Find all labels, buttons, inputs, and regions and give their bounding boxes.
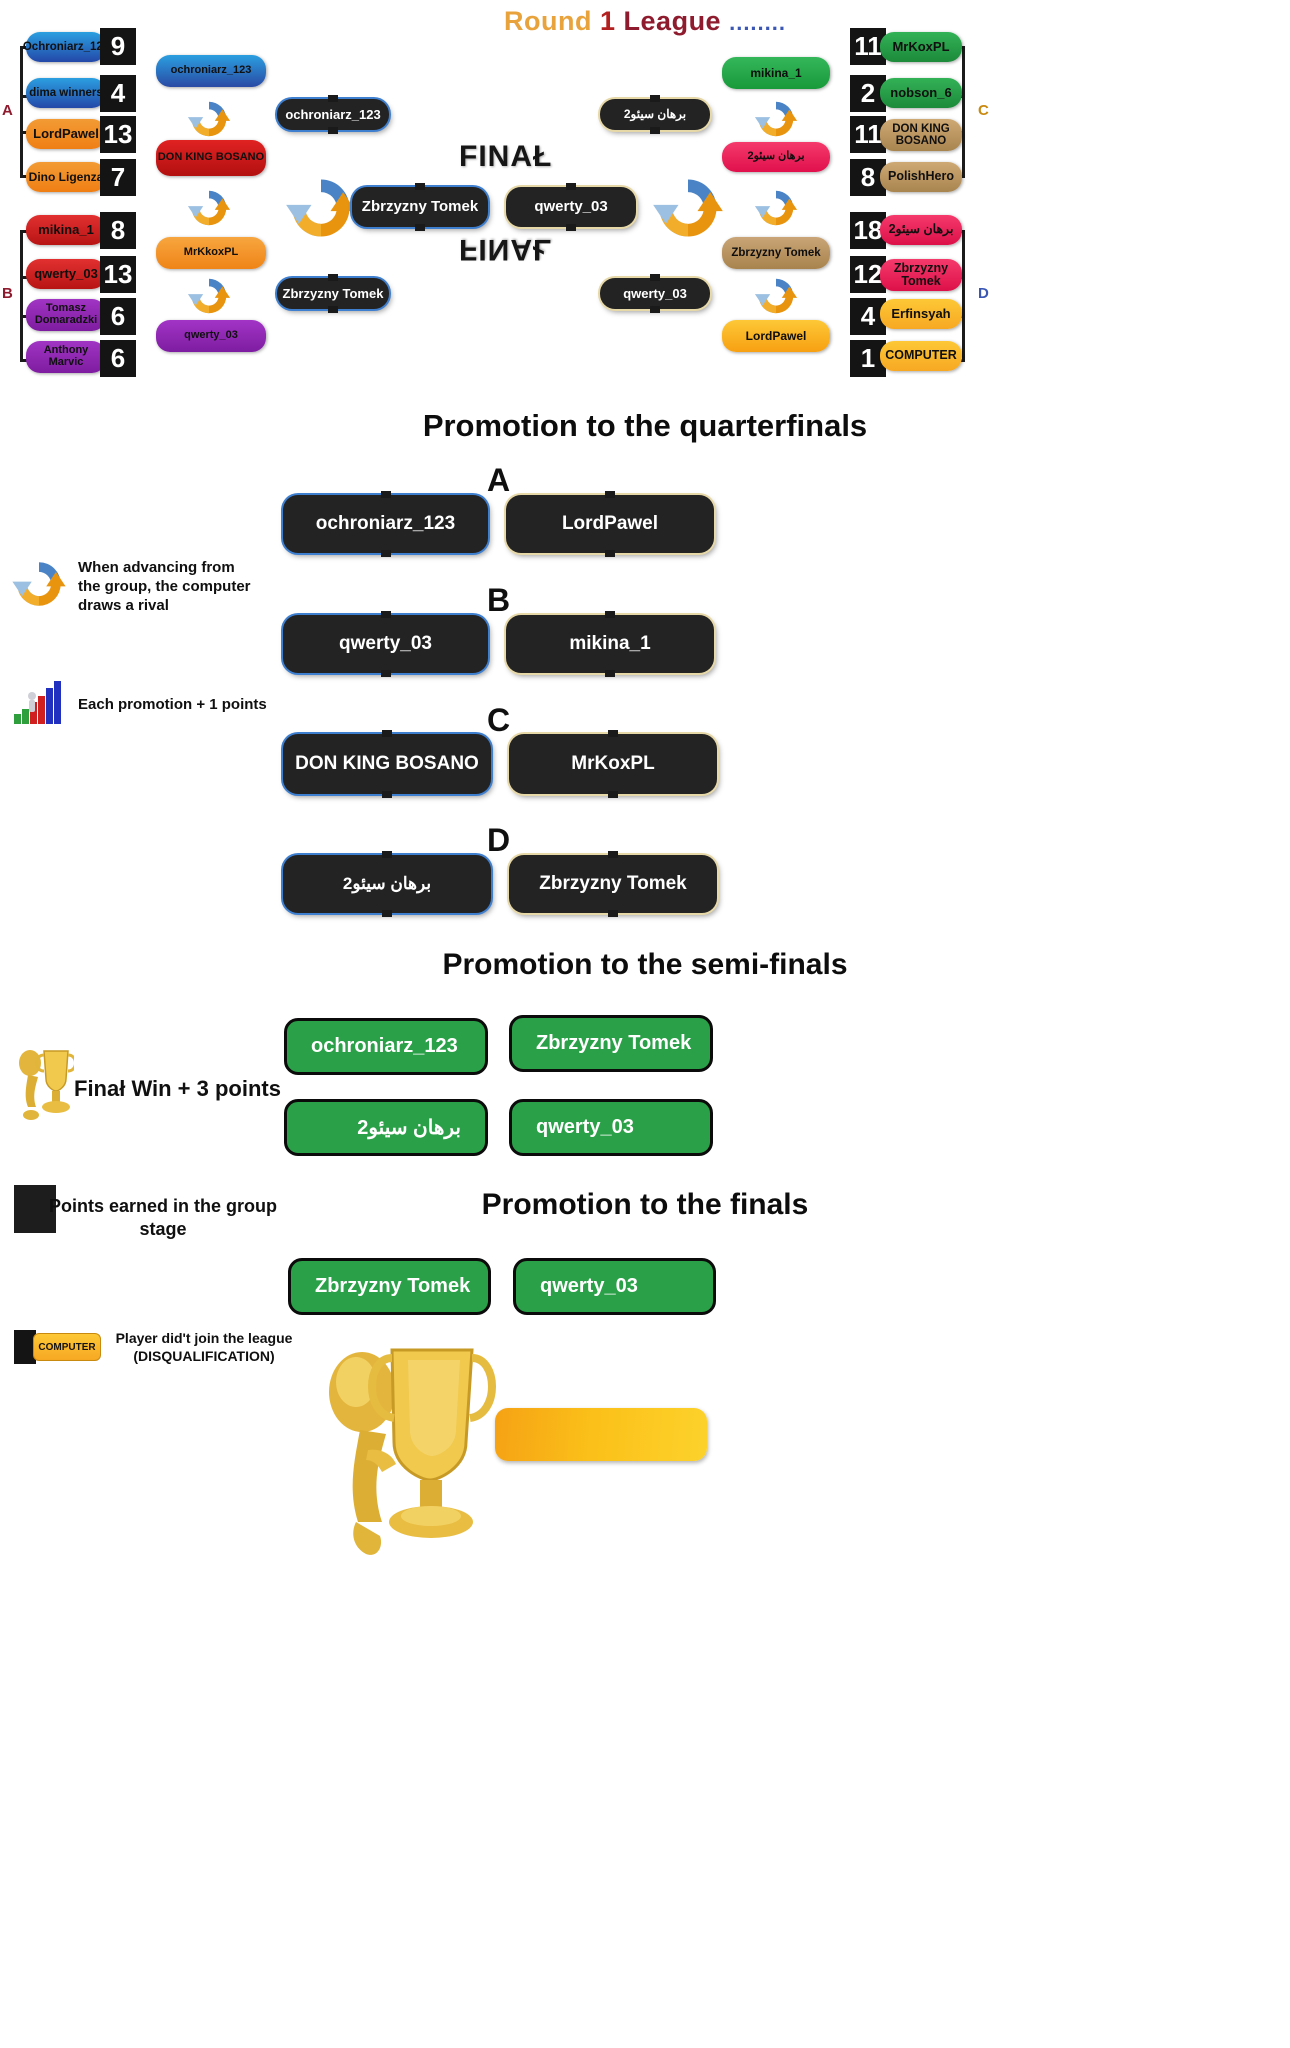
legend-text-promotion: Each promotion + 1 points	[78, 695, 278, 714]
group-b-score-3: 6	[100, 298, 136, 335]
nub-bottom	[650, 127, 660, 134]
group-b-player-2: qwerty_03	[26, 259, 106, 289]
title-round: Round	[504, 6, 592, 36]
nub-top	[382, 730, 392, 737]
group-letter-b: B	[2, 285, 13, 302]
nub-bottom	[605, 670, 615, 677]
nub-top	[650, 274, 660, 281]
circular-arrows-icon-r2	[753, 185, 799, 231]
group-letter-a: A	[2, 102, 13, 119]
qf-a-left-label: ochroniarz_123	[316, 513, 455, 536]
nub-top	[566, 183, 576, 190]
nub-bottom	[328, 127, 338, 134]
group-d-player-1: برهان سيئو2	[880, 215, 962, 245]
page-title: Round 1 League ........	[0, 6, 1290, 37]
circular-arrows-icon-rc	[650, 170, 726, 246]
circular-arrows-icon-lc	[283, 170, 359, 246]
circular-arrows-icon-l2	[186, 185, 232, 231]
qf-c-left-label: DON KING BOSANO	[295, 753, 479, 776]
circular-arrows-icon-l3	[186, 273, 232, 319]
nub-top	[605, 491, 615, 498]
final-label-top: FINAŁ	[459, 140, 552, 174]
group-c-player-4: PolishHero	[880, 162, 962, 192]
qf-c-right-label: MrKoxPL	[571, 753, 654, 776]
group-b-player-4: Anthony Marvic	[26, 341, 106, 373]
group-a-player-2: dima winners	[26, 78, 106, 108]
group-c-player-2: nobson_6	[880, 78, 962, 108]
group-b-player-3: Tomasz Domaradzki	[26, 299, 106, 331]
qf-d-left-label: برهان سيئو2	[343, 874, 431, 894]
title-dots: ........	[729, 10, 786, 35]
tournament-bracket-page: Round 1 League ........ A Ochroniarz_123…	[0, 0, 1290, 2048]
right-col2-box-2: qwerty_03	[600, 278, 710, 309]
group-a-player-3: LordPawel	[26, 119, 106, 149]
left-finalist-box: Zbrzyzny Tomek	[352, 187, 488, 227]
group-b-score-2: 13	[100, 256, 136, 293]
semifinal-box-4: qwerty_03	[509, 1099, 713, 1156]
nub-bottom	[605, 550, 615, 557]
circular-arrows-icon-r1	[753, 96, 799, 142]
group-a-player-4: Dino Ligenza	[26, 162, 106, 192]
finalist-box-2: qwerty_03	[513, 1258, 716, 1315]
finalist-box-1: Zbrzyzny Tomek	[288, 1258, 491, 1315]
circular-arrows-icon-legend	[10, 555, 68, 613]
legend-text-final-win: Finał Win + 3 points	[74, 1075, 304, 1103]
left-col1-box-2: DON KING BOSANO	[156, 140, 266, 176]
nub-top	[381, 611, 391, 618]
nub-top	[328, 95, 338, 102]
nub-bottom	[608, 791, 618, 798]
title-league: League	[624, 6, 722, 36]
right-col1-box-3: Zbrzyzny Tomek	[722, 237, 830, 269]
nub-bottom	[381, 670, 391, 677]
nub-bottom	[382, 791, 392, 798]
group-b-score-1: 8	[100, 212, 136, 249]
qf-letter-c: C	[487, 702, 510, 739]
group-a-score-1: 9	[100, 28, 136, 65]
group-a-player-1: Ochroniarz_123	[26, 32, 106, 62]
qf-a-right-label: LordPawel	[562, 513, 658, 536]
qf-letter-a: A	[487, 462, 510, 499]
trophy-icon	[12, 1045, 74, 1121]
qf-a-left-box: ochroniarz_123	[283, 495, 488, 553]
legend-text-draw: When advancing from the group, the compu…	[78, 558, 258, 616]
left-col2-box-2: Zbrzyzny Tomek	[277, 278, 389, 309]
qf-b-left-box: qwerty_03	[283, 615, 488, 673]
right-finalist-label: qwerty_03	[534, 198, 607, 216]
legend-text-disqualification: Player did't join the league (DISQUALIFI…	[104, 1330, 304, 1366]
qf-letter-d: D	[487, 822, 510, 859]
group-a-score-4: 7	[100, 159, 136, 196]
group-b-score-4: 6	[100, 340, 136, 377]
left-col2-box-1: ochroniarz_123	[277, 99, 389, 130]
qf-b-right-label: mikina_1	[569, 633, 650, 656]
nub-bottom	[415, 224, 425, 231]
finals-heading: Promotion to the finals	[0, 1188, 1290, 1222]
semifinal-box-1: ochroniarz_123	[284, 1018, 488, 1075]
winner-name-slot[interactable]	[495, 1408, 707, 1461]
right-col1-box-1: mikina_1	[722, 57, 830, 89]
group-d-player-3: Erfinsyah	[880, 299, 962, 329]
group-d-player-4: COMPUTER	[880, 341, 962, 371]
qf-letter-b: B	[487, 582, 510, 619]
nub-top	[650, 95, 660, 102]
nub-bottom	[328, 306, 338, 313]
left-col2-label-1: ochroniarz_123	[285, 107, 380, 123]
title-number: 1	[600, 6, 616, 36]
bracket-line-b	[20, 230, 23, 362]
semifinals-heading: Promotion to the semi-finals	[0, 948, 1290, 982]
group-a-score-3: 13	[100, 116, 136, 153]
nub-bottom	[608, 910, 618, 917]
group-c-player-3: DON KING BOSANO	[880, 119, 962, 151]
left-col1-box-1: ochroniarz_123	[156, 55, 266, 87]
group-letter-c: C	[978, 102, 989, 119]
group-letter-d: D	[978, 285, 989, 302]
qf-d-right-box: Zbrzyzny Tomek	[509, 855, 717, 913]
computer-badge-icon: COMPUTER	[33, 1333, 101, 1361]
right-col2-label-2: qwerty_03	[623, 286, 687, 302]
bracket-line-a	[20, 46, 23, 178]
qf-b-right-box: mikina_1	[506, 615, 714, 673]
left-col1-box-4: qwerty_03	[156, 320, 266, 352]
quarterfinals-heading: Promotion to the quarterfinals	[0, 408, 1290, 444]
group-c-player-1: MrKoxPL	[880, 32, 962, 62]
bracket-line-d	[962, 230, 965, 362]
nub-top	[381, 491, 391, 498]
right-col1-box-4: LordPawel	[722, 320, 830, 352]
nub-top	[328, 274, 338, 281]
right-finalist-box: qwerty_03	[506, 187, 636, 227]
group-a-score-2: 4	[100, 75, 136, 112]
right-col1-box-2: برهان سيئو2	[722, 142, 830, 172]
qf-b-left-label: qwerty_03	[339, 633, 432, 656]
semifinal-box-2: Zbrzyzny Tomek	[509, 1015, 713, 1072]
qf-c-right-box: MrKoxPL	[509, 734, 717, 794]
nub-top	[608, 730, 618, 737]
nub-bottom	[382, 910, 392, 917]
qf-c-left-box: DON KING BOSANO	[283, 734, 491, 794]
nub-top	[608, 851, 618, 858]
nub-bottom	[381, 550, 391, 557]
qf-d-left-box: برهان سيئو2	[283, 855, 491, 913]
semifinal-box-3: برهان سيئو2	[284, 1099, 488, 1156]
right-col2-label-1: برهان سيئو2	[624, 107, 686, 121]
bracket-line-c	[962, 46, 965, 178]
circular-arrows-icon-r3	[753, 273, 799, 319]
nub-bottom	[566, 224, 576, 231]
circular-arrows-icon-l1	[186, 96, 232, 142]
left-col2-label-2: Zbrzyzny Tomek	[283, 286, 384, 302]
group-b-player-1: mikina_1	[26, 215, 106, 245]
qf-d-right-label: Zbrzyzny Tomek	[539, 873, 686, 896]
nub-bottom	[650, 306, 660, 313]
bar-chart-icon	[12, 680, 68, 724]
nub-top	[415, 183, 425, 190]
right-col2-box-1: برهان سيئو2	[600, 99, 710, 130]
nub-top	[382, 851, 392, 858]
left-finalist-label: Zbrzyzny Tomek	[362, 198, 478, 216]
left-col1-box-3: MrKkoxPL	[156, 237, 266, 269]
final-label-bottom: FINAŁ	[459, 232, 552, 266]
winner-trophy-icon	[310, 1330, 500, 1560]
group-d-player-2: Zbrzyzny Tomek	[880, 259, 962, 291]
qf-a-right-box: LordPawel	[506, 495, 714, 553]
nub-top	[605, 611, 615, 618]
